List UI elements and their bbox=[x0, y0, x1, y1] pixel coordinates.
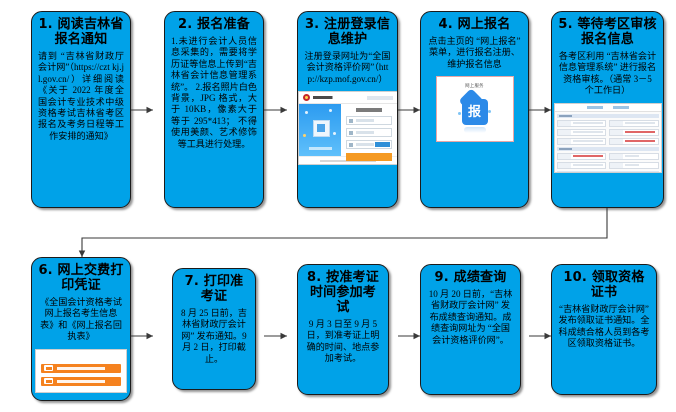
form-section-header-1 bbox=[557, 114, 659, 118]
step-7-body: 8 月 25 日前，吉林省财政厅会计网” 发布通知。9 月 2 日，打印截止。 bbox=[179, 308, 249, 365]
printer-icon bbox=[44, 378, 53, 384]
username-field[interactable] bbox=[346, 116, 392, 125]
print-info-form-button[interactable] bbox=[41, 364, 121, 373]
registration-form-screenshot bbox=[554, 103, 662, 173]
form-tab-2 bbox=[613, 106, 629, 109]
step-10-title: 10. 领取资格证书 bbox=[558, 270, 650, 300]
step-card-1[interactable]: 1. 阅读吉林省报名通知 请到 “吉林省财政厅会计网”（https://czt … bbox=[31, 11, 131, 208]
form-field[interactable] bbox=[557, 162, 607, 169]
step-1-title: 1. 阅读吉林省报名通知 bbox=[38, 17, 124, 47]
step-7-title: 7. 打印准考证 bbox=[179, 274, 249, 304]
form-section-header-3 bbox=[557, 171, 659, 173]
process-flow-diagram: 1. 阅读吉林省报名通知 请到 “吉林省财政厅会计网”（https://czt … bbox=[0, 0, 676, 412]
form-field[interactable] bbox=[609, 138, 659, 145]
step-card-2[interactable]: 2. 报名准备 1.未进行会计人员信息采集的，需要将学历证等信息上传到“吉林省会… bbox=[164, 11, 264, 208]
login-button[interactable] bbox=[346, 153, 392, 161]
form-field[interactable] bbox=[609, 153, 659, 160]
printer-icon bbox=[44, 365, 53, 371]
step-6-title: 6. 网上交费打印凭证 bbox=[38, 263, 124, 293]
online-service-caption: 网上服务 bbox=[437, 83, 513, 89]
form-field[interactable] bbox=[609, 120, 659, 127]
form-field[interactable] bbox=[609, 129, 659, 136]
step-6-body: 《全国会计资格考试网上报名考生信息表》和《网上报名回执表》 bbox=[38, 297, 124, 343]
step-card-6[interactable]: 6. 网上交费打印凭证 《全国会计资格考试网上报名考生信息表》和《网上报名回执表… bbox=[31, 257, 131, 401]
step-10-body: “吉林省财政厅会计网” 发布领取证书通知。全科成绩合格人员到各考区领取资格证书。 bbox=[558, 304, 650, 350]
form-field[interactable] bbox=[557, 153, 607, 160]
national-emblem-icon bbox=[303, 94, 310, 101]
step-5-body: 各考区利用 “吉林省会计信息管理系统” 进行报名资格审核。（通常 3－5 个工作… bbox=[558, 51, 657, 97]
step-card-10[interactable]: 10. 领取资格证书 “吉林省财政厅会计网” 发布领取证书通知。全科成绩合格人员… bbox=[551, 264, 657, 395]
arrow-5-to-6 bbox=[82, 208, 607, 257]
print-voucher-screenshot bbox=[35, 349, 127, 393]
print-receipt-form-button[interactable] bbox=[41, 377, 121, 386]
step-card-8[interactable]: 8. 按准考证时间参加考试 9 月 3 日至 9 月 5 日，到准考证上明确的时… bbox=[297, 264, 389, 395]
step-3-body: 注册登录网址为“全国会计资格评价网”（http://kzp.mof.gov.cn… bbox=[304, 51, 391, 85]
step-8-body: 9 月 3 日至 9 月 5 日，到准考证上明确的时间、地点参加考试。 bbox=[304, 319, 382, 365]
form-tab-1 bbox=[587, 106, 603, 109]
step-card-9[interactable]: 9. 成绩查询 10 月 20 日前，“吉林省财政厅会计网” 发布成绩查询通知。… bbox=[420, 264, 521, 395]
form-field[interactable] bbox=[609, 162, 659, 169]
login-form bbox=[341, 104, 397, 156]
step-5-title: 5. 等待考区审核报名信息 bbox=[558, 17, 657, 47]
form-field[interactable] bbox=[557, 138, 607, 145]
step-card-7[interactable]: 7. 打印准考证 8 月 25 日前，吉林省财政厅会计网” 发布通知。9 月 2… bbox=[172, 268, 256, 390]
login-banner-art bbox=[299, 104, 341, 156]
form-section-header-2 bbox=[557, 147, 659, 151]
password-field[interactable] bbox=[346, 128, 392, 137]
form-field[interactable] bbox=[557, 129, 607, 136]
step-4-body: 点击主页的 “网上报名” 菜单，进行报名注册、维护报名信息 bbox=[427, 36, 522, 70]
step-8-title: 8. 按准考证时间参加考试 bbox=[304, 270, 382, 315]
step-card-5[interactable]: 5. 等待考区审核报名信息 各考区利用 “吉林省会计信息管理系统” 进行报名资格… bbox=[551, 11, 664, 208]
step-3-title: 3. 注册登录信息维护 bbox=[304, 17, 391, 47]
online-registration-icon[interactable]: 报 bbox=[458, 96, 492, 132]
step-2-title: 2. 报名准备 bbox=[171, 17, 257, 32]
online-service-screenshot: 网上服务 报 bbox=[436, 76, 514, 142]
print-voucher-caption bbox=[36, 355, 126, 360]
step-4-title: 4. 网上报名 bbox=[427, 17, 522, 32]
step-9-body: 10 月 20 日前，“吉林省财政厅会计网” 发布成绩查询通知。成绩查询网址为 … bbox=[427, 289, 514, 346]
login-page-screenshot bbox=[298, 91, 398, 165]
login-form-heading bbox=[356, 108, 382, 112]
online-service-icon-char: 报 bbox=[462, 103, 488, 123]
step-9-title: 9. 成绩查询 bbox=[427, 270, 514, 285]
captcha-image bbox=[375, 142, 390, 147]
step-card-4[interactable]: 4. 网上报名 点击主页的 “网上报名” 菜单，进行报名注册、维护报名信息 网上… bbox=[420, 11, 529, 208]
form-tabs[interactable] bbox=[555, 104, 661, 112]
login-page-header bbox=[299, 92, 397, 104]
step-1-body: 请到 “吉林省财政厅会计网”（https://czt kj.jl.gov.cn/… bbox=[38, 51, 124, 142]
form-field[interactable] bbox=[557, 120, 607, 127]
captcha-field[interactable] bbox=[346, 140, 392, 149]
step-card-3[interactable]: 3. 注册登录信息维护 注册登录网址为“全国会计资格评价网”（http://kz… bbox=[297, 11, 398, 208]
step-2-body: 1.未进行会计人员信息采集的，需要将学历证等信息上传到“吉林省会计信息管理系统”… bbox=[171, 36, 257, 150]
